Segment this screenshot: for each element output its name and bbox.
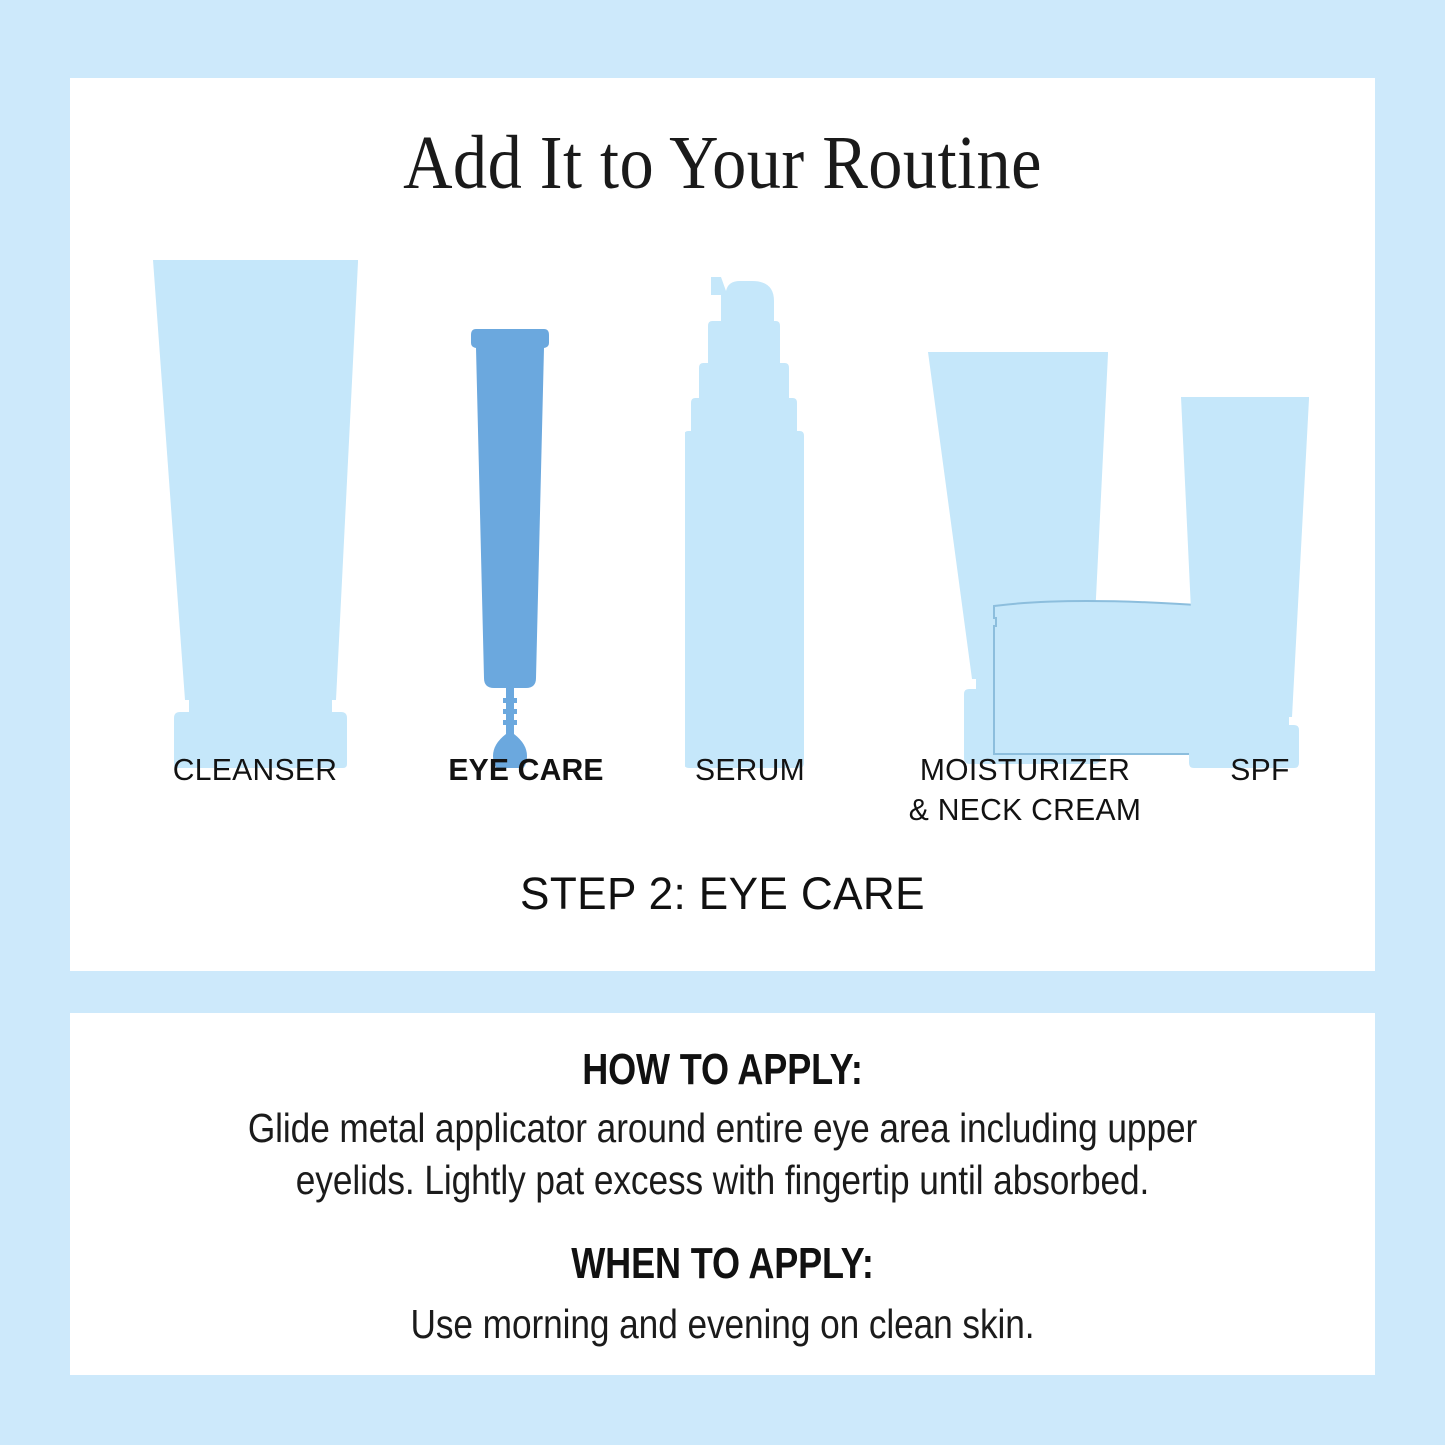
product-label-cleanser-line-1: CLEANSER <box>114 750 395 790</box>
product-serum <box>685 273 815 768</box>
instructions-card: HOW TO APPLY: Glide metal applicator aro… <box>70 1013 1375 1375</box>
routine-card: Add It to Your Routine <box>70 78 1375 971</box>
page-title: Add It to Your Routine <box>135 120 1310 207</box>
product-label-cleanser: CLEANSER <box>114 750 395 790</box>
product-label-moisturizer-line-1: MOISTURIZER <box>865 750 1185 790</box>
product-label-serum-line-1: SERUM <box>634 750 867 790</box>
product-label-eye-care-line-1: EYE CARE <box>404 750 648 790</box>
when-to-apply-text: Use morning and evening on clean skin. <box>196 1299 1250 1351</box>
how-to-apply-heading: HOW TO APPLY: <box>187 1047 1257 1093</box>
step-heading: STEP 2: EYE CARE <box>83 868 1362 920</box>
product-eye-care <box>464 325 588 768</box>
product-labels: CLEANSER EYE CARE SERUM MOISTURIZER & NE… <box>70 750 1375 860</box>
tube-eye-care-icon <box>464 325 588 768</box>
product-label-moisturizer-line-2: & NECK CREAM <box>865 790 1185 830</box>
product-spf <box>1177 393 1313 768</box>
product-label-spf: SPF <box>1173 750 1348 790</box>
pump-bottle-serum-icon <box>685 273 815 768</box>
infographic-page: Add It to Your Routine <box>0 0 1445 1445</box>
how-to-apply-text: Glide metal applicator around entire eye… <box>196 1103 1250 1206</box>
tube-spf-icon <box>1177 393 1313 768</box>
product-cleanser <box>148 256 363 768</box>
product-label-moisturizer: MOISTURIZER & NECK CREAM <box>865 750 1185 830</box>
product-label-serum: SERUM <box>634 750 867 790</box>
when-to-apply-heading: WHEN TO APPLY: <box>187 1241 1257 1287</box>
tube-cleanser-icon <box>148 256 363 768</box>
product-label-eye-care: EYE CARE <box>404 750 648 790</box>
product-label-spf-line-1: SPF <box>1173 750 1348 790</box>
product-lineup <box>70 208 1375 768</box>
